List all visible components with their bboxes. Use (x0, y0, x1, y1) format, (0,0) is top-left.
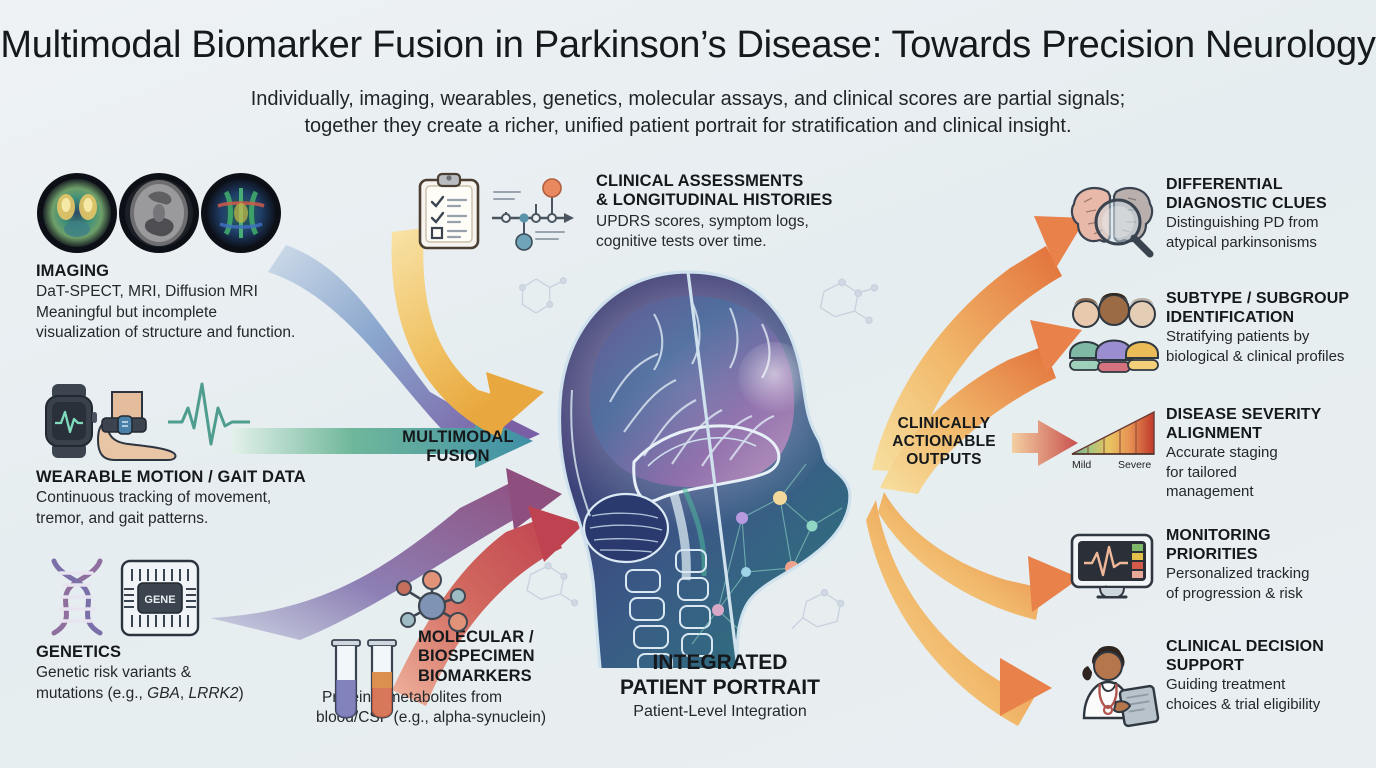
input-block-genetics: GENE GENETICS Genetic risk variants & mu… (36, 555, 366, 703)
subtitle-line-1: Individually, imaging, wearables, geneti… (0, 86, 1376, 113)
severity-body-3: management (1166, 483, 1372, 502)
gene-gba: GBA (147, 685, 180, 702)
decision-body-2: choices & trial eligibility (1166, 696, 1372, 715)
dna-gene-chip-icon: GENE (36, 555, 236, 639)
outputs-label-line-3: OUTPUTS (880, 451, 1008, 469)
output-block-monitoring: MONITORING PRIORITIES Personalized track… (1066, 527, 1372, 603)
scan-dat-spect (37, 173, 117, 253)
test-tubes-molecule-icon (322, 636, 408, 746)
fusion-label-line-1: MULTIMODAL (392, 428, 524, 447)
scan-diffusion-mri (201, 173, 281, 253)
gene-lrrk2: LRRK2 (189, 685, 239, 702)
monitoring-body-2: of progression & risk (1166, 585, 1372, 604)
brain-magnifier-icon (1066, 178, 1162, 260)
fusion-label-line-2: FUSION (392, 447, 524, 466)
input-block-imaging: IMAGING DaT-SPECT, MRI, Diffusion MRI Me… (36, 172, 366, 343)
person-center (1096, 293, 1132, 372)
differential-body-1: Distinguishing PD from (1166, 214, 1372, 233)
differential-heading-2: DIAGNOSTIC CLUES (1166, 195, 1372, 214)
output-block-subtype: SUBTYPE / SUBGROUP IDENTIFICATION Strati… (1066, 290, 1372, 366)
genetics-body-2-pre: mutations (e.g., (36, 685, 147, 702)
genetics-heading: GENETICS (36, 643, 366, 662)
test-tube-blue (332, 640, 360, 718)
subtype-heading-1: SUBTYPE / SUBGROUP (1166, 290, 1372, 309)
input-block-wearable: WEARABLE MOTION / GAIT DATA Continuous t… (36, 378, 366, 528)
cerebellum (584, 494, 668, 562)
genetics-body-2-post: ) (238, 685, 243, 702)
page-title: Multimodal Biomarker Fusion in Parkinson… (0, 24, 1376, 67)
decision-heading-2: SUPPORT (1166, 657, 1372, 676)
monitoring-heading-1: MONITORING (1166, 527, 1372, 546)
scan-mri (119, 173, 199, 253)
decision-heading-1: CLINICAL DECISION (1166, 638, 1372, 657)
timeline-icon (492, 179, 574, 250)
monitoring-heading-2: PRIORITIES (1166, 546, 1372, 565)
outputs-label-line-1: CLINICALLY (880, 415, 1008, 433)
input-block-clinical: CLINICAL ASSESSMENTS & LONGITUDINAL HIST… (414, 172, 844, 252)
clinically-actionable-outputs-label: CLINICALLY ACTIONABLE OUTPUTS (880, 415, 1008, 469)
subtitle-line-2: together they create a richer, unified p… (0, 113, 1376, 140)
people-group-icon (1066, 292, 1162, 372)
ramp-label-mild: Mild (1072, 459, 1091, 471)
imaging-body-1: DaT-SPECT, MRI, Diffusion MRI (36, 282, 366, 302)
clinical-heading-1: CLINICAL ASSESSMENTS (596, 172, 844, 191)
genetics-body-2: mutations (e.g., GBA, LRRK2) (36, 684, 366, 704)
molecule-icon (384, 562, 480, 648)
outputs-label-line-2: ACTIONABLE (880, 433, 1008, 451)
clinician-tablet-icon (1066, 640, 1162, 726)
differential-body-2: atypical parkinsonisms (1166, 234, 1372, 253)
integrated-patient-portrait-label: INTEGRATED PATIENT PORTRAIT Patient-Leve… (560, 650, 880, 721)
multimodal-fusion-label: MULTIMODAL FUSION (392, 428, 524, 467)
wearable-body-1: Continuous tracking of movement, (36, 488, 366, 508)
severity-ramp-icon: Mild Severe (1066, 408, 1162, 480)
decision-body-1: Guiding treatment (1166, 676, 1372, 695)
subtype-body-2: biological & clinical profiles (1166, 348, 1372, 367)
clinical-body-2: cognitive tests over time. (596, 232, 844, 252)
ankle-sensor-icon (98, 392, 175, 460)
integrated-patient-head-illustration (506, 250, 906, 670)
clinical-body-1: UPDRS scores, symptom logs, (596, 212, 844, 232)
severity-heading-1: DISEASE SEVERITY (1166, 406, 1372, 425)
test-tube-red (368, 640, 396, 718)
subtype-body-1: Stratifying patients by (1166, 328, 1372, 347)
brain-scan-circles-icon (36, 172, 322, 254)
wearable-heading: WEARABLE MOTION / GAIT DATA (36, 468, 366, 487)
subtype-heading-2: IDENTIFICATION (1166, 309, 1372, 328)
gene-chip-icon: GENE (122, 561, 198, 635)
output-block-decision: CLINICAL DECISION SUPPORT Guiding treatm… (1066, 638, 1372, 714)
genetics-body-1: Genetic risk variants & (36, 663, 366, 683)
genetics-body-2-mid: , (180, 685, 189, 702)
portrait-title-line-2: PATIENT PORTRAIT (560, 675, 880, 700)
portrait-subtitle: Patient-Level Integration (560, 703, 880, 721)
severity-heading-2: ALIGNMENT (1166, 425, 1372, 444)
smartwatch-ankle-sensor-icon (36, 378, 286, 464)
smartwatch-icon (46, 384, 97, 458)
severity-body-2: for tailored (1166, 464, 1372, 483)
wearable-body-2: tremor, and gait patterns. (36, 509, 366, 529)
dna-helix-icon (54, 561, 100, 633)
imaging-body-3: visualization of structure and function. (36, 323, 366, 343)
output-block-severity: Mild Severe DISEASE SEVERITY ALIGNMENT A… (1066, 406, 1372, 502)
ecg-waveform-icon (168, 384, 250, 444)
clipboard-timeline-icon (414, 172, 594, 250)
severity-body-1: Accurate staging (1166, 444, 1372, 463)
portrait-title-line-1: INTEGRATED (560, 650, 880, 675)
differential-heading-1: DIFFERENTIAL (1166, 176, 1372, 195)
imaging-heading: IMAGING (36, 262, 366, 281)
monitoring-body-1: Personalized tracking (1166, 565, 1372, 584)
clinical-heading-2: & LONGITUDINAL HISTORIES (596, 191, 844, 210)
monitor-ecg-icon (1066, 529, 1162, 605)
output-block-differential: DIFFERENTIAL DIAGNOSTIC CLUES Distinguis… (1066, 176, 1372, 252)
infographic-canvas: Multimodal Biomarker Fusion in Parkinson… (0, 0, 1376, 768)
ramp-label-severe: Severe (1118, 459, 1151, 471)
svg-text:GENE: GENE (144, 594, 175, 606)
clipboard-icon (420, 174, 478, 248)
page-subtitle: Individually, imaging, wearables, geneti… (0, 86, 1376, 139)
imaging-body-2: Meaningful but incomplete (36, 303, 366, 323)
